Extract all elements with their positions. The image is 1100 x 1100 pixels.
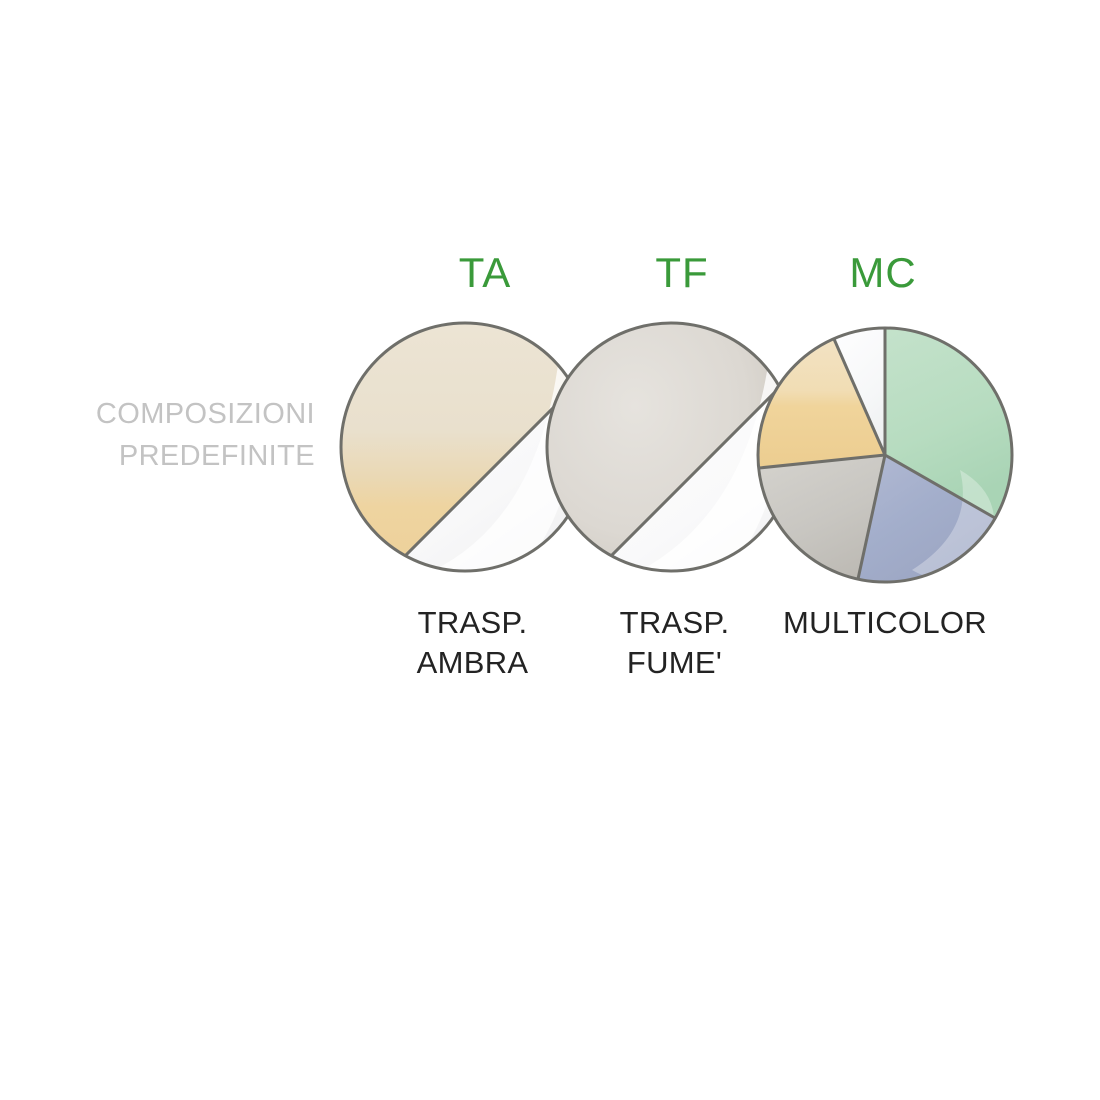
diagram-canvas: COMPOSIZIONI PREDEFINITE TA TF MC <box>0 0 1100 1100</box>
circle-label-mc: MULTICOLOR <box>760 603 1010 643</box>
composition-circles <box>0 0 1100 1100</box>
circle-label-tf: TRASP. FUME' <box>567 603 782 683</box>
circle-label-ta: TRASP. AMBRA <box>365 603 580 683</box>
circle-mc[interactable] <box>758 328 1012 582</box>
